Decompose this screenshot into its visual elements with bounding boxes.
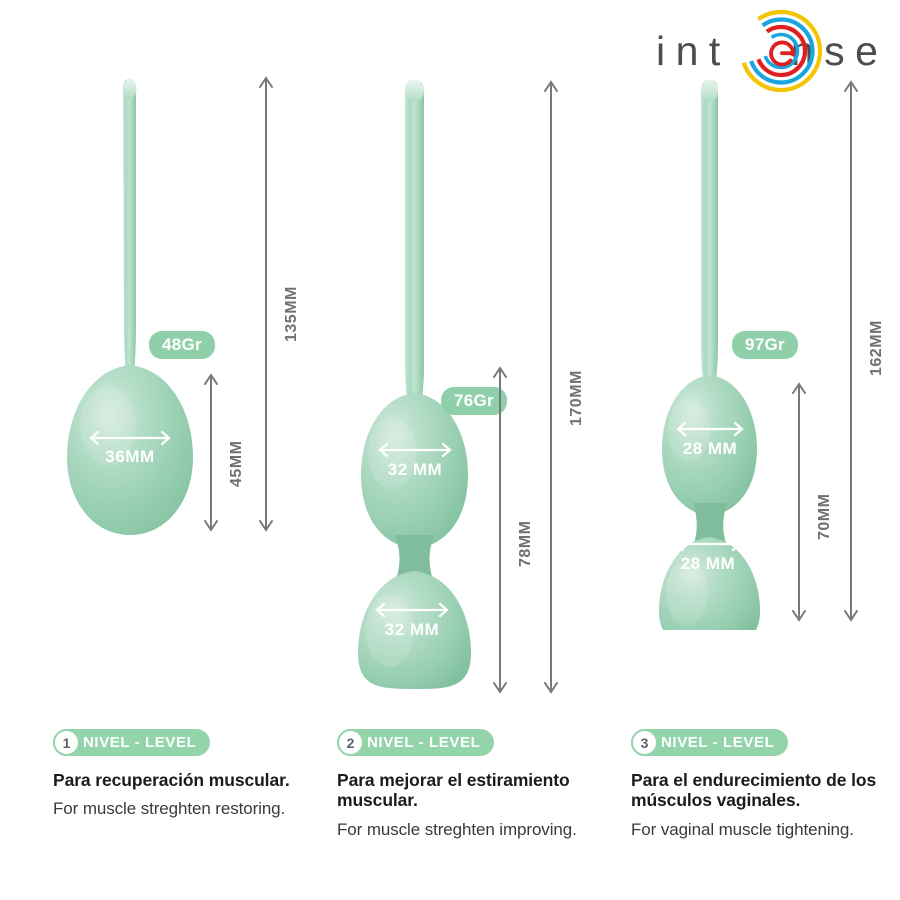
level-label-2: NIVEL - LEVEL xyxy=(367,735,480,750)
level-label-3: NIVEL - LEVEL xyxy=(661,735,774,750)
product-3-length-dimension: 162MM xyxy=(836,76,866,631)
caption-level-2: 2 NIVEL - LEVEL Para mejorar el estirami… xyxy=(337,729,607,840)
level-badge-2: 2 NIVEL - LEVEL xyxy=(337,729,494,756)
dimension-arrow-78mm xyxy=(485,362,515,698)
product-3-upper-width-label: 28 MM xyxy=(660,439,760,459)
level-number-3: 3 xyxy=(631,729,658,756)
infographic-canvas: int nse xyxy=(0,0,900,900)
caption-spanish-1: Para recuperación muscular. xyxy=(53,770,323,790)
product-2-lower-width-label: 32 MM xyxy=(362,620,462,640)
product-3-length-dimension-label: 162MM xyxy=(868,320,886,376)
product-1-length-dimension: 135MM xyxy=(251,72,281,541)
product-3-weight-badge: 97Gr xyxy=(732,331,798,359)
level-number-2: 2 xyxy=(337,729,364,756)
caption-level-3: 3 NIVEL - LEVEL Para el endurecimiento d… xyxy=(631,729,900,840)
dimension-arrow-135mm xyxy=(251,72,281,536)
level-label-1: NIVEL - LEVEL xyxy=(83,735,196,750)
caption-spanish-3: Para el endurecimiento de los músculos v… xyxy=(631,770,900,811)
caption-spanish-2: Para mejorar el estiramiento muscular. xyxy=(337,770,607,811)
product-2-length-dimension-label: 170MM xyxy=(568,370,586,426)
level-number-1: 1 xyxy=(53,729,80,756)
product-2-upper-width-label: 32 MM xyxy=(365,460,465,480)
product-1-body-dimension: 45MM xyxy=(196,370,226,540)
product-3-body-dimension: 70MM xyxy=(784,378,814,631)
product-1-width-label: 36MM xyxy=(80,447,180,467)
dimension-arrow-45mm xyxy=(196,370,226,535)
dimension-arrow-162mm xyxy=(836,76,866,626)
product-3-lower-width-label: 28 MM xyxy=(658,554,758,574)
product-1-length-dimension-label: 135MM xyxy=(283,286,301,342)
dimension-arrow-70mm xyxy=(784,378,814,626)
product-1-weight-badge: 48Gr xyxy=(149,331,215,359)
product-3-body-dimension-label: 70MM xyxy=(816,494,834,540)
caption-english-1: For muscle streghten restoring. xyxy=(53,799,323,819)
brand-wordmark-prefix: int xyxy=(656,28,731,75)
caption-english-2: For muscle streghten improving. xyxy=(337,820,607,840)
level-badge-3: 3 NIVEL - LEVEL xyxy=(631,729,788,756)
product-2-body-dimension-label: 78MM xyxy=(517,521,535,567)
level-badge-1: 1 NIVEL - LEVEL xyxy=(53,729,210,756)
caption-english-3: For vaginal muscle tightening. xyxy=(631,820,900,840)
product-2-body-dimension: 78MM xyxy=(485,362,515,703)
dimension-arrow-170mm xyxy=(536,76,566,698)
product-1-body-dimension-label: 45MM xyxy=(228,441,246,487)
product-2-length-dimension: 170MM xyxy=(536,76,566,703)
caption-level-1: 1 NIVEL - LEVEL Para recuperación muscul… xyxy=(53,729,323,820)
